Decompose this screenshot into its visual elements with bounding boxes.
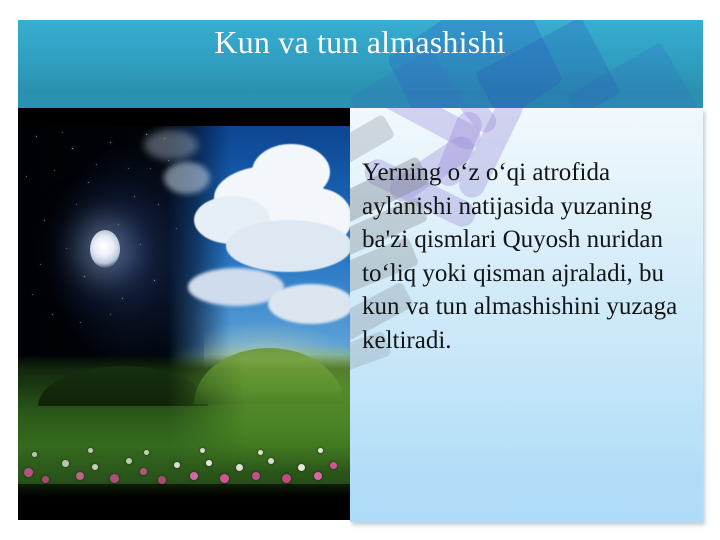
star-icon — [118, 224, 119, 225]
flower-icon — [144, 450, 149, 455]
star-icon — [66, 248, 67, 249]
flower-icon — [76, 472, 84, 480]
flower-icon — [330, 462, 337, 469]
star-icon — [62, 132, 63, 133]
day-night-landscape-image — [18, 108, 352, 520]
star-icon — [72, 148, 73, 149]
star-icon — [158, 204, 159, 205]
flower-icon — [42, 476, 49, 483]
flower-icon — [110, 474, 119, 483]
flower-icon — [268, 458, 274, 464]
star-icon — [146, 134, 147, 135]
photo-top-band — [18, 108, 352, 126]
star-icon — [168, 160, 169, 161]
flower-icon — [158, 476, 166, 484]
star-icon — [54, 170, 55, 171]
star-icon — [110, 142, 111, 143]
star-icon — [150, 168, 151, 169]
star-icon — [176, 228, 177, 229]
flower-icon — [32, 452, 37, 457]
flower-icon — [298, 464, 305, 471]
star-icon — [134, 196, 135, 197]
star-icon — [106, 258, 107, 259]
flower-icon — [126, 458, 132, 464]
flower-icon — [140, 468, 147, 475]
flower-icon — [174, 462, 180, 468]
flower-icon — [92, 464, 98, 470]
slide-body-text: Yerning oʻz oʻqi atrofida aylanishi nati… — [362, 156, 692, 357]
flower-icon — [252, 472, 260, 480]
star-icon — [84, 276, 85, 277]
flower-icon — [236, 464, 243, 471]
star-icon — [110, 314, 111, 315]
flower-icon — [88, 448, 93, 453]
flower-icon — [258, 450, 263, 455]
star-icon — [32, 294, 33, 295]
star-icon — [122, 298, 123, 299]
flower-icon — [24, 468, 33, 477]
star-icon — [96, 164, 97, 165]
star-icon — [154, 280, 155, 281]
star-icon — [88, 182, 89, 183]
flower-icon — [314, 472, 322, 480]
star-icon — [128, 168, 129, 169]
flower-icon — [190, 472, 198, 480]
star-icon — [52, 314, 53, 315]
star-icon — [80, 322, 81, 323]
flower-icon — [282, 474, 291, 483]
star-icon — [36, 136, 37, 137]
watermark-digit-2-stroke-top — [369, 108, 485, 154]
star-icon — [26, 176, 27, 177]
flower-icon — [318, 448, 323, 453]
star-icon — [76, 204, 77, 205]
watermark-digit-1-flag — [455, 108, 500, 137]
slide-title: Kun va tun almashishi — [0, 22, 720, 62]
star-icon — [164, 138, 165, 139]
flower-icon — [62, 460, 69, 467]
flower-icon — [220, 474, 229, 483]
flower-icon — [206, 460, 212, 466]
photo-bottom-band — [18, 484, 352, 520]
slide-canvas: Kun va tun almashishi — [0, 0, 720, 540]
flower-icon — [200, 448, 205, 453]
star-icon — [40, 264, 41, 265]
content-panel: Yerning oʻz oʻqi atrofida aylanishi nati… — [350, 108, 703, 522]
star-icon — [44, 220, 45, 221]
star-icon — [140, 244, 141, 245]
